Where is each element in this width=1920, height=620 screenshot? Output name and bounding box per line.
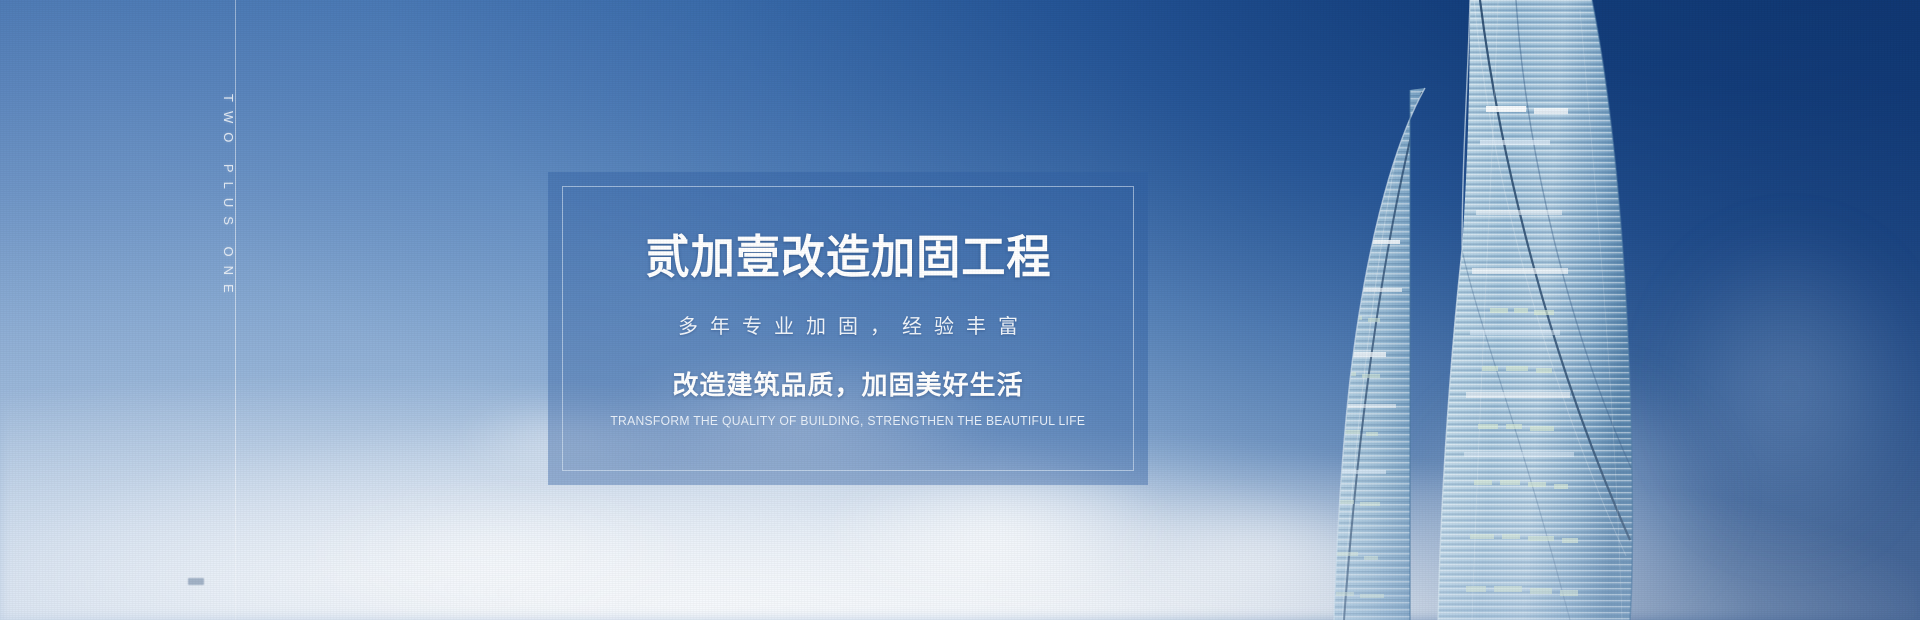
hero-banner: TWO PLUS ONE 贰加壹改造加固工程 多年专业加固，经验丰富 改造建筑品… <box>0 0 1920 620</box>
hero-tagline-en: TRANSFORM THE QUALITY OF BUILDING, STREN… <box>611 414 1086 428</box>
hero-subtitle-spaced: 多年专业加固，经验丰富 <box>666 310 1030 339</box>
hero-text-frame: 贰加壹改造加固工程 多年专业加固，经验丰富 改造建筑品质，加固美好生活 TRAN… <box>548 172 1148 485</box>
vertical-divider-line <box>235 0 236 620</box>
corner-mark-icon <box>188 578 204 585</box>
skyscraper-illustration <box>1330 0 1730 620</box>
hero-tagline-cn: 改造建筑品质，加固美好生活 <box>672 365 1023 402</box>
hero-title: 贰加壹改造加固工程 <box>645 233 1051 282</box>
brand-vertical-text: TWO PLUS ONE <box>222 92 235 302</box>
hero-text-content: 贰加壹改造加固工程 多年专业加固，经验丰富 改造建筑品质，加固美好生活 TRAN… <box>566 190 1130 467</box>
